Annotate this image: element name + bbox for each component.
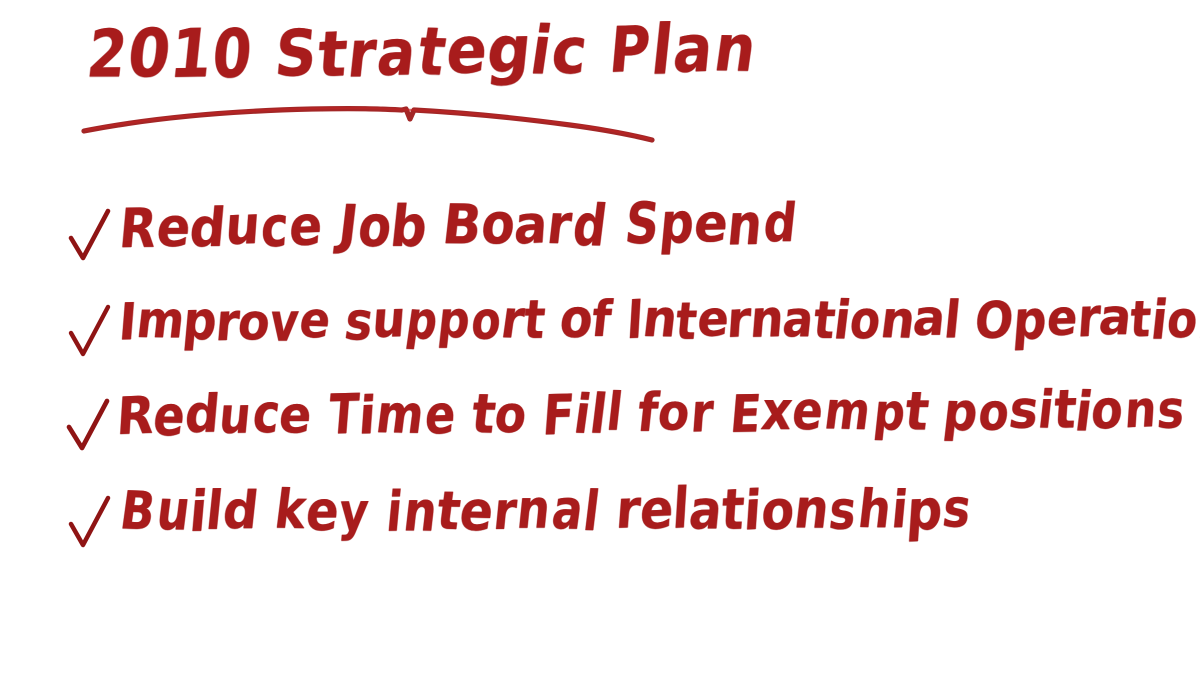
- whiteboard-slide: 2010 Strategic Plan Reduce Job Board Spe…: [0, 0, 1200, 691]
- list-item-label: Improve support of International Operati…: [116, 288, 1200, 353]
- check-mark-icon: [68, 305, 112, 367]
- list-item-label: Reduce Time to Fill for Exempt positions: [114, 380, 1188, 448]
- title-block: 2010 Strategic Plan: [82, 18, 782, 138]
- title-underline-swoosh-icon: [80, 100, 660, 146]
- list-item[interactable]: Improve support of International Operati…: [0, 291, 1200, 386]
- checklist: Reduce Job Board Spend Improve support o…: [0, 196, 1200, 576]
- list-item[interactable]: Reduce Job Board Spend: [0, 196, 1200, 291]
- check-mark-icon: [68, 494, 112, 556]
- check-mark-icon: [66, 398, 110, 460]
- list-item[interactable]: Build key internal relationships: [0, 481, 1200, 576]
- check-mark-icon: [68, 208, 112, 270]
- list-item-label: Reduce Job Board Spend: [116, 192, 801, 258]
- list-item-label: Build key internal relationships: [116, 478, 974, 543]
- page-title: 2010 Strategic Plan: [82, 11, 761, 94]
- list-item[interactable]: Reduce Time to Fill for Exempt positions: [0, 386, 1200, 481]
